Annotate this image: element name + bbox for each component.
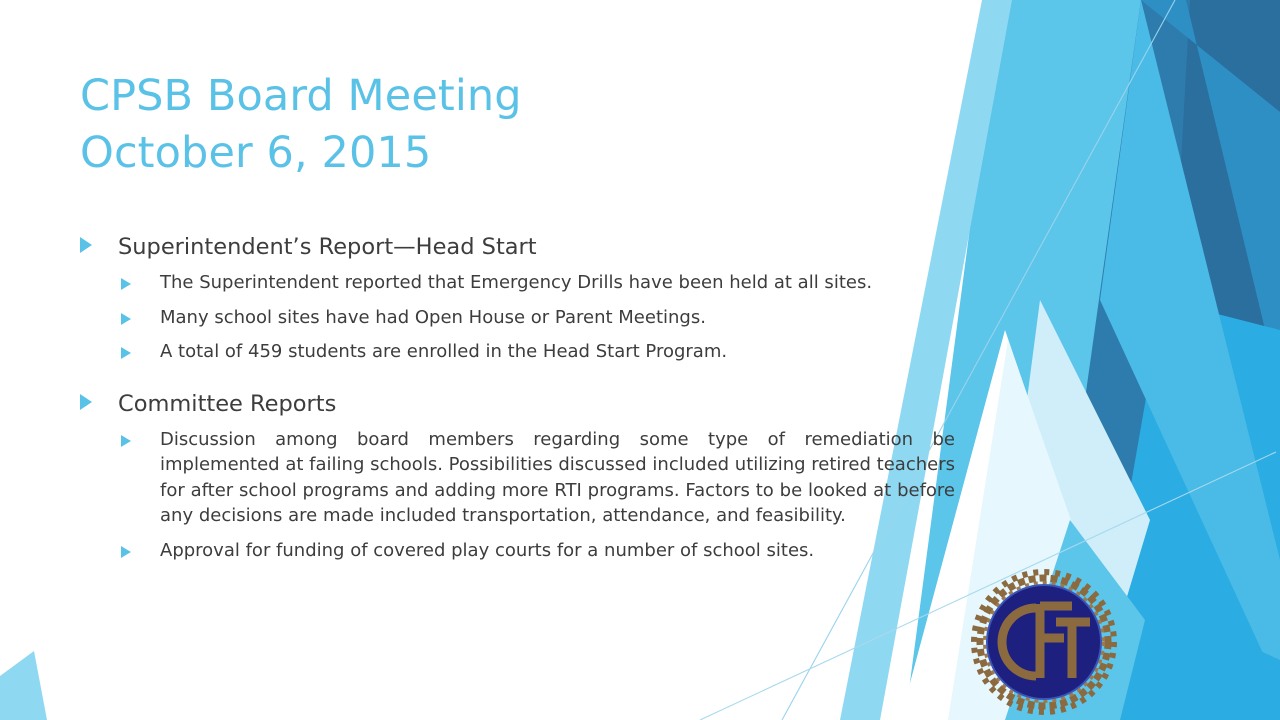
bullet-level1: Superintendent’s Report—Head Start xyxy=(80,228,960,266)
section-spacer xyxy=(80,374,960,385)
presentation-slide: CPSB Board Meeting October 6, 2015 Super… xyxy=(0,0,1280,720)
bullet-level2: Discussion among board members regarding… xyxy=(80,427,960,529)
bullet-level2-label: Approval for funding of covered play cou… xyxy=(160,538,814,564)
slide-body: Superintendent’s Report—Head Start The S… xyxy=(80,228,960,572)
deco-shape-deep-blue-right xyxy=(1146,0,1280,720)
deco-shape-sky-blue-right-sliver xyxy=(1100,0,1280,690)
bullet-level2: The Superintendent reported that Emergen… xyxy=(80,270,960,296)
triangle-right-icon xyxy=(121,270,160,290)
bullet-level2-label: Discussion among board members regarding… xyxy=(160,427,955,529)
cft-logo xyxy=(968,566,1120,718)
triangle-right-icon xyxy=(80,385,118,410)
triangle-right-icon xyxy=(121,339,160,359)
bullet-level1-label: Committee Reports xyxy=(118,385,336,423)
bullet-level2: Approval for funding of covered play cou… xyxy=(80,538,960,564)
bullet-level2: Many school sites have had Open House or… xyxy=(80,305,960,331)
slide-title-line-1: CPSB Board Meeting xyxy=(80,68,900,125)
bullet-level1: Committee Reports xyxy=(80,385,960,423)
bullet-level2-label: Many school sites have had Open House or… xyxy=(160,305,706,331)
deco-shape-cyan-bottom-strip xyxy=(1120,600,1280,720)
triangle-right-icon xyxy=(80,228,118,253)
triangle-right-icon xyxy=(121,305,160,325)
bullet-level1-label: Superintendent’s Report—Head Start xyxy=(118,228,537,266)
triangle-right-icon xyxy=(121,538,160,558)
deco-shape-mid-blue xyxy=(1141,0,1280,392)
bullet-level2-label: The Superintendent reported that Emergen… xyxy=(160,270,872,296)
slide-title-line-2: October 6, 2015 xyxy=(80,125,900,182)
deco-shape-bottom-left-wedge xyxy=(0,651,47,720)
bullet-level2-label: A total of 459 students are enrolled in … xyxy=(160,339,727,365)
slide-title: CPSB Board Meeting October 6, 2015 xyxy=(80,68,900,182)
triangle-right-icon xyxy=(121,427,160,447)
bullet-level2: A total of 459 students are enrolled in … xyxy=(80,339,960,365)
